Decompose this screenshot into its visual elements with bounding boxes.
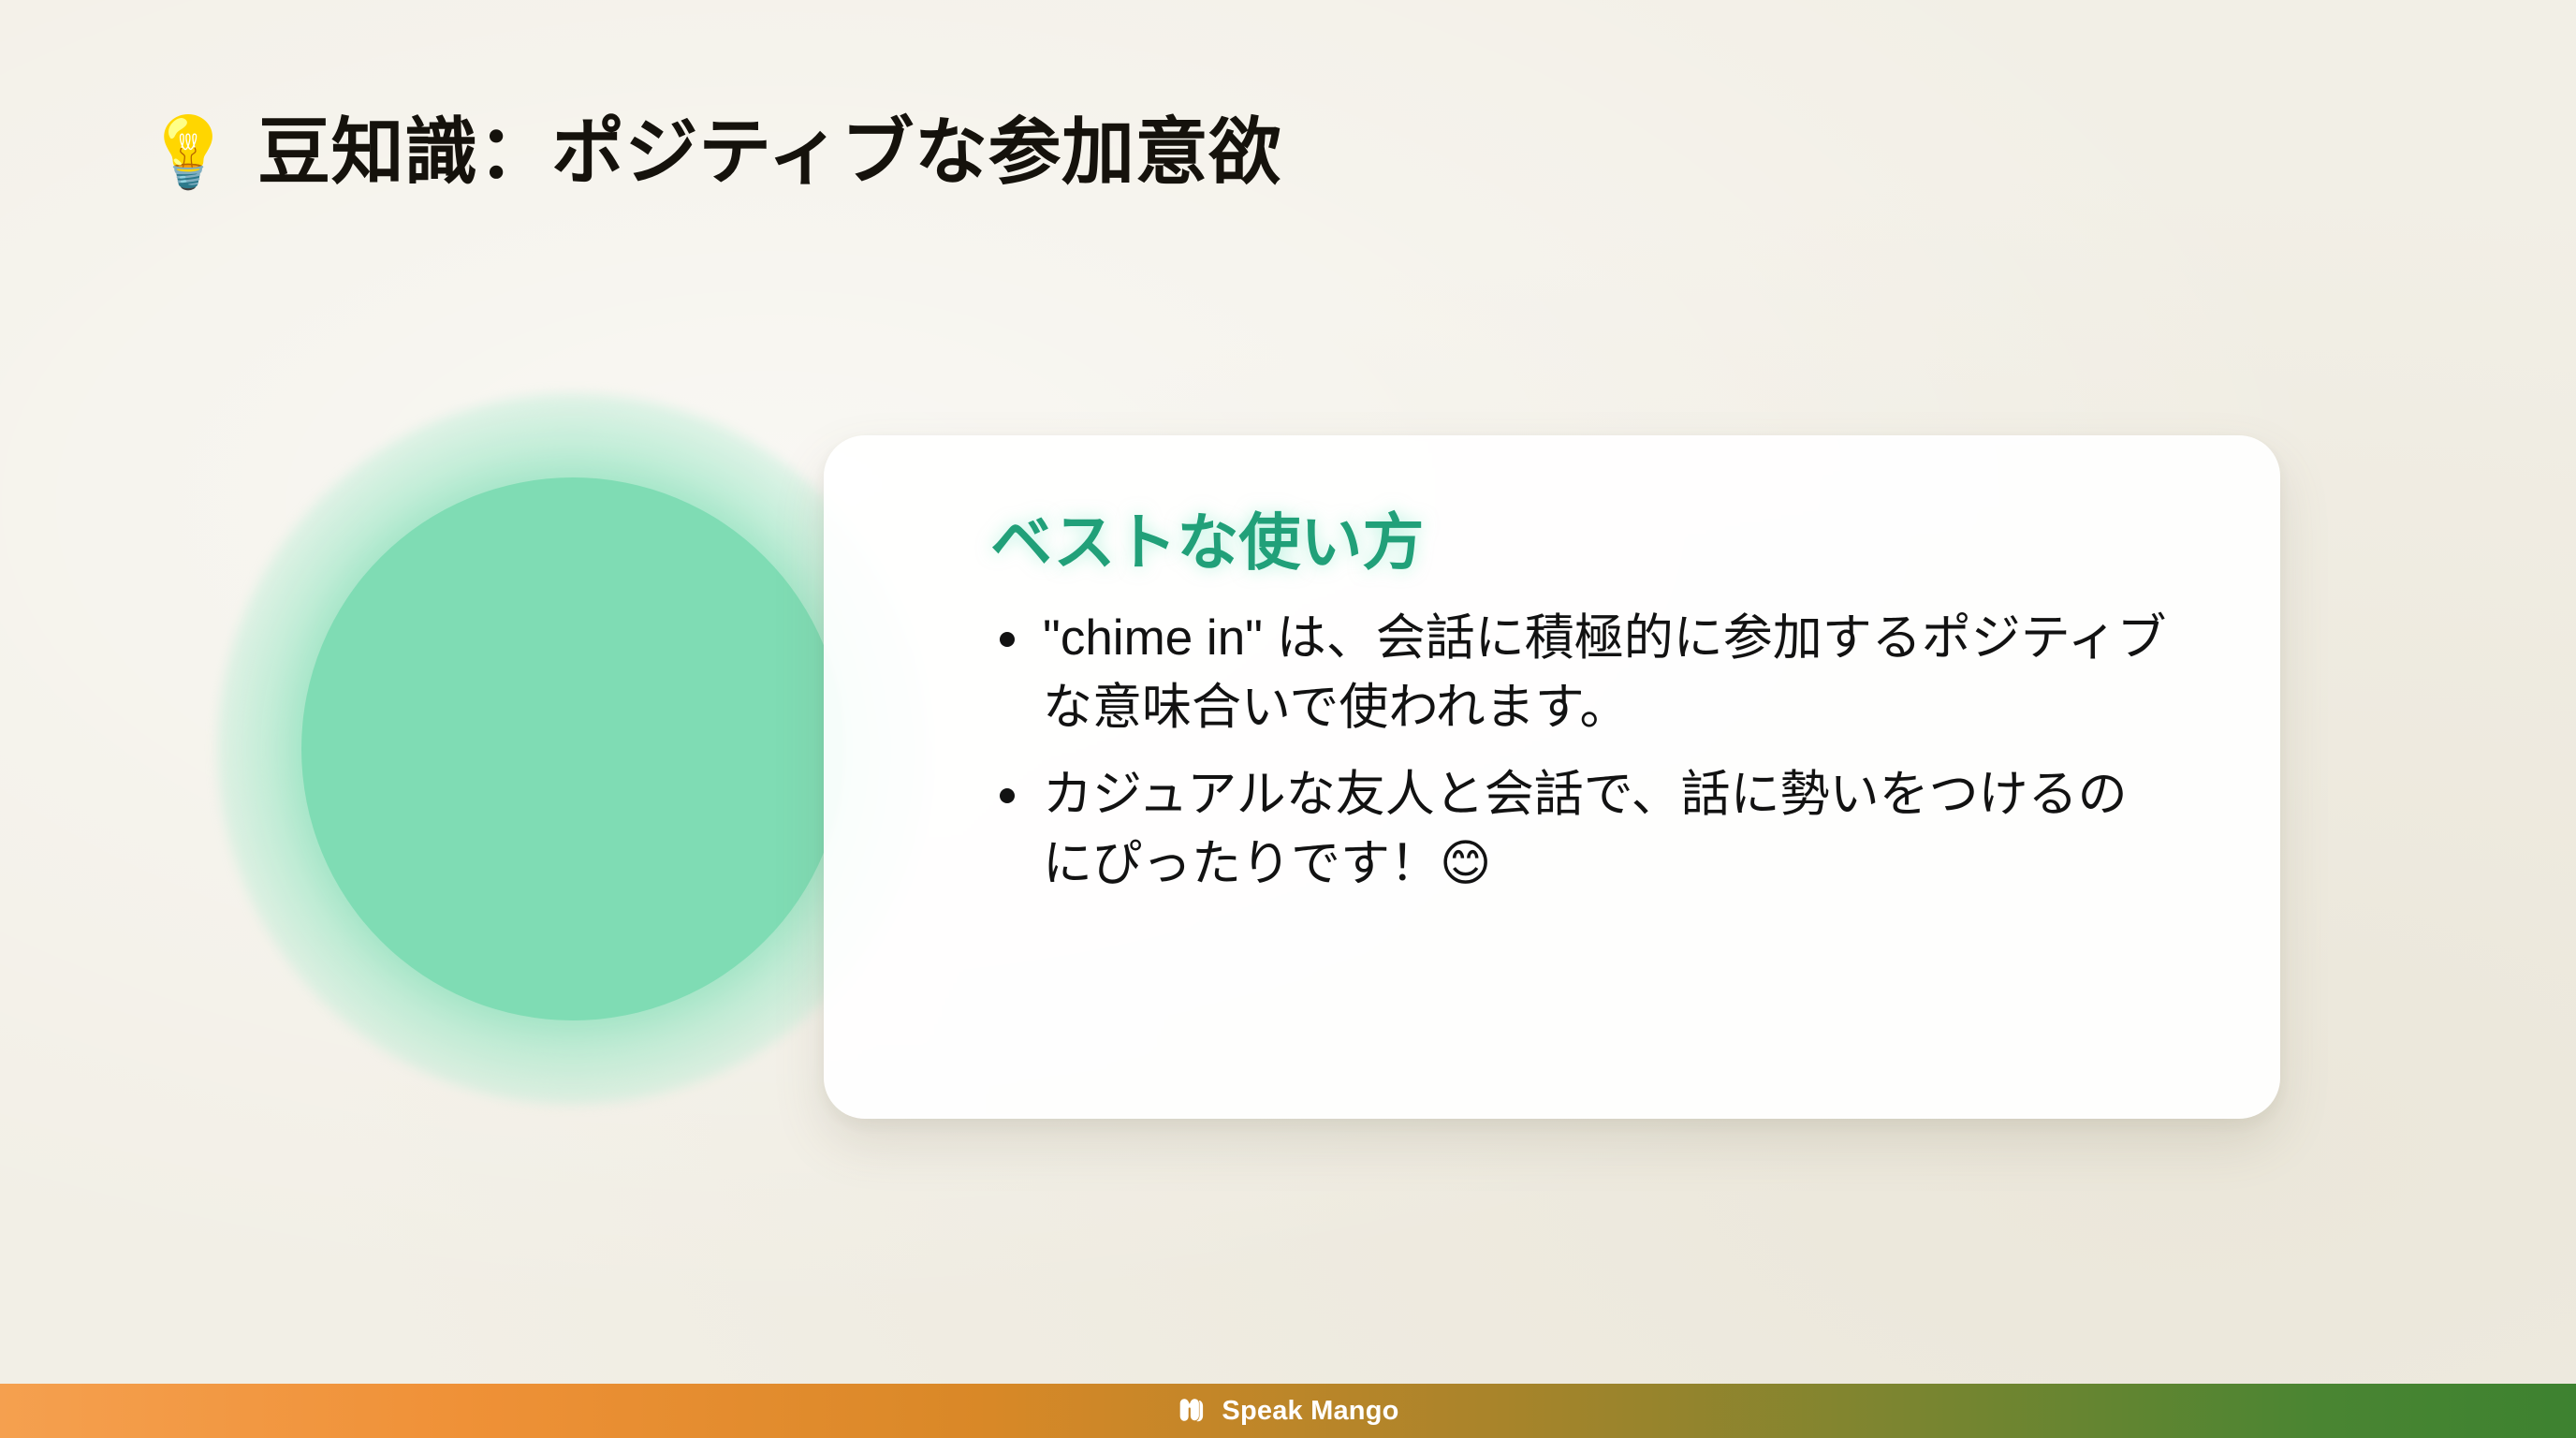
light-bulb-icon: 💡 — [145, 118, 231, 187]
slide-title: 💡 豆知識：ポジティブな参加意欲 — [145, 112, 1281, 193]
list-item-text: "chime in" は、会話に積極的に参加するポジティブな意味合いで使われます… — [1043, 610, 2167, 735]
footer-brand-text: Speak Mango — [1222, 1398, 1398, 1425]
list-item: カジュアルな友人と会話で、話に勢いをつけるのにぴったりです！😊 — [990, 760, 2168, 899]
footer-brand-bar: Speak Mango — [0, 1384, 2576, 1438]
page-title: 豆知識：ポジティブな参加意欲 — [257, 112, 1281, 193]
list-item-text: カジュアルな友人と会話で、話に勢いをつけるのにぴったりです！😊 — [1043, 767, 2128, 891]
content-card: ベストな使い方 "chime in" は、会話に積極的に参加するポジティブな意味… — [824, 435, 2280, 1119]
list-item: "chime in" は、会話に積極的に参加するポジティブな意味合いで使われます… — [990, 604, 2168, 742]
card-heading: ベストな使い方 — [990, 506, 2168, 580]
bullet-dot-icon — [1000, 788, 1015, 803]
mint-circle-decoration — [301, 477, 844, 1020]
speak-mango-logo — [1177, 1395, 1208, 1427]
slide-canvas: 💡 豆知識：ポジティブな参加意欲 ベストな使い方 "chime in" は、会話… — [0, 0, 2576, 1438]
bullet-list: "chime in" は、会話に積極的に参加するポジティブな意味合いで使われます… — [990, 604, 2168, 899]
bullet-dot-icon — [1000, 632, 1015, 647]
content-card-body: ベストな使い方 "chime in" は、会話に積極的に参加するポジティブな意味… — [990, 506, 2168, 916]
